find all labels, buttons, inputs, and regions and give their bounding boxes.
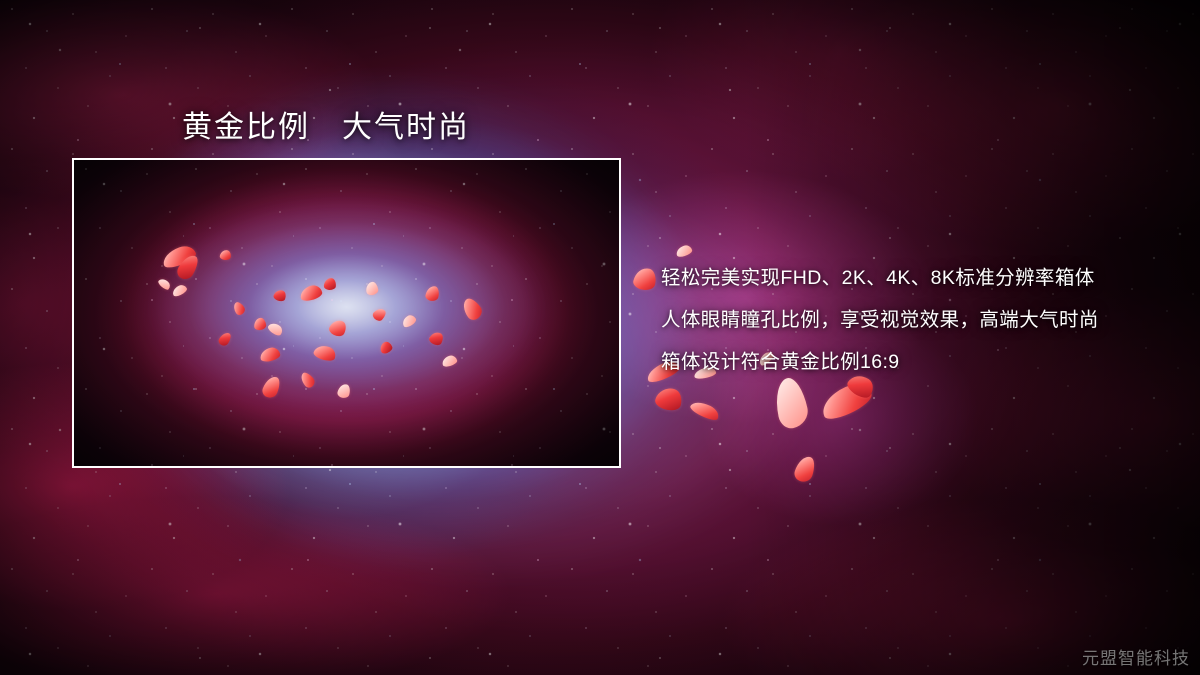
panel-content bbox=[74, 160, 619, 466]
description-line-2: 人体眼睛瞳孔比例，享受视觉效果，高端大气时尚 bbox=[661, 299, 1181, 341]
slide-canvas: 黄金比例 大气时尚 轻松完美实现FHD、2K、4K、8K标准分辨率箱体 人体眼睛… bbox=[0, 0, 1200, 675]
panel-vignette bbox=[74, 160, 619, 466]
page-title: 黄金比例 大气时尚 bbox=[182, 102, 470, 146]
feature-description-block: 轻松完美实现FHD、2K、4K、8K标准分辨率箱体 人体眼睛瞳孔比例，享受视觉效… bbox=[661, 257, 1181, 383]
petal bbox=[324, 278, 337, 291]
description-line-1: 轻松完美实现FHD、2K、4K、8K标准分辨率箱体 bbox=[661, 257, 1181, 299]
company-watermark: 元盟智能科技 bbox=[1082, 644, 1190, 669]
nebula-preview-frame bbox=[72, 158, 621, 468]
description-line-3: 箱体设计符合黄金比例16:9 bbox=[661, 341, 1181, 383]
